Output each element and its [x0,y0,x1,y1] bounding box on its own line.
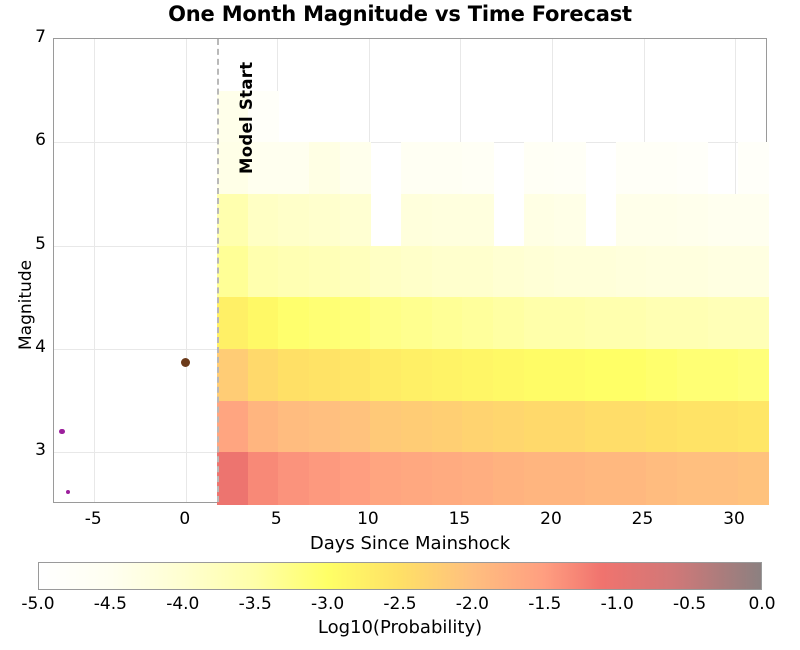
colorbar-tick-label: -1.5 [515,594,575,614]
x-axis-label: Days Since Mainshock [53,533,767,554]
x-axis-tick-label: 20 [521,509,581,529]
x-axis-tick-label: 10 [338,509,398,529]
page-title: One Month Magnitude vs Time Forecast [0,2,800,26]
model-start-marker: Model Start [54,39,766,502]
colorbar-tick-label: -3.5 [225,594,285,614]
x-axis-tick-label: 15 [429,509,489,529]
model-start-label: Model Start [237,62,256,174]
plot-area: Model Start [53,38,767,503]
y-axis-label: Magnitude [16,260,36,350]
colorbar-tick-label: -4.0 [153,594,213,614]
x-axis-tick-label: 5 [246,509,306,529]
forecast-figure: One Month Magnitude vs Time Forecast Mod… [0,0,800,650]
y-axis-tick-label: 6 [6,130,46,150]
colorbar-tick-label: -3.0 [298,594,358,614]
y-axis-tick-label: 5 [6,234,46,254]
colorbar-tick-label: -0.5 [660,594,720,614]
x-axis-tick-label: 30 [704,509,764,529]
x-axis-tick-label: 0 [155,509,215,529]
colorbar-label: Log10(Probability) [0,617,800,638]
colorbar-tick-label: -4.5 [80,594,140,614]
colorbar-tick-label: -2.5 [370,594,430,614]
model-start-line [217,39,219,502]
y-axis-tick-label: 7 [6,27,46,47]
colorbar-gradient [38,562,762,590]
x-axis-tick-label: -5 [63,509,123,529]
colorbar-tick-label: -2.0 [442,594,502,614]
colorbar-tick-label: -1.0 [587,594,647,614]
colorbar-tick-label: -5.0 [8,594,68,614]
colorbar-tick-label: 0.0 [732,594,792,614]
colorbar [38,562,762,590]
x-axis-tick-label: 25 [613,509,673,529]
y-axis-tick-label: 3 [6,440,46,460]
